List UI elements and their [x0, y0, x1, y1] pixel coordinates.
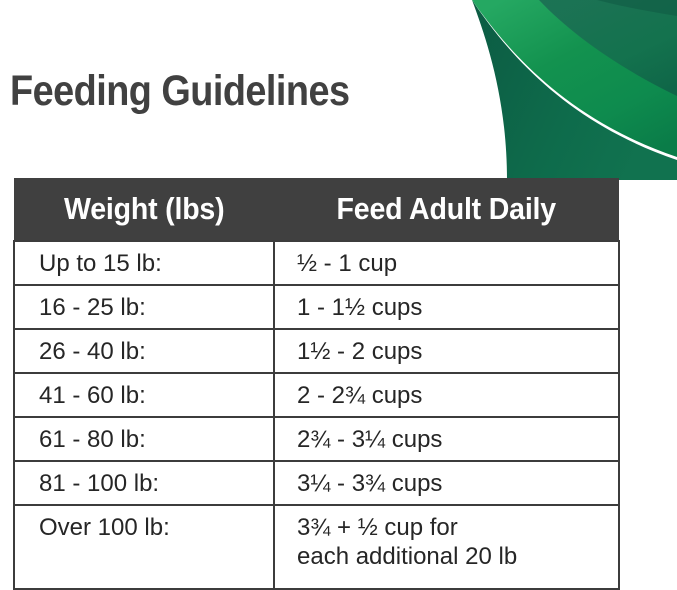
table-row: 16 - 25 lb: 1 - 1½ cups	[14, 285, 619, 329]
weight-cell: 41 - 60 lb:	[14, 373, 274, 417]
feed-cell-line: 1½ - 2 cups	[297, 337, 618, 366]
feeding-guidelines-table: Weight (lbs) Feed Adult Daily Up to 15 l…	[13, 178, 620, 590]
column-header-feed: Feed Adult Daily	[274, 178, 619, 241]
table-row: Up to 15 lb: ½ - 1 cup	[14, 241, 619, 285]
feed-cell: 3¾ + ½ cup for each additional 20 lb	[274, 505, 619, 589]
table-row: 41 - 60 lb: 2 - 2¾ cups	[14, 373, 619, 417]
feed-cell-line: ½ - 1 cup	[297, 249, 618, 278]
feed-cell-line: 2¾ - 3¼ cups	[297, 425, 618, 454]
column-header-weight: Weight (lbs)	[14, 178, 274, 241]
feed-cell: 3¼ - 3¾ cups	[274, 461, 619, 505]
table-row: 26 - 40 lb: 1½ - 2 cups	[14, 329, 619, 373]
feed-cell: ½ - 1 cup	[274, 241, 619, 285]
weight-cell: 16 - 25 lb:	[14, 285, 274, 329]
weight-cell: Up to 15 lb:	[14, 241, 274, 285]
table-row: Over 100 lb: 3¾ + ½ cup for each additio…	[14, 505, 619, 589]
column-header-feed-label: Feed Adult Daily	[337, 192, 556, 226]
feed-cell: 2 - 2¾ cups	[274, 373, 619, 417]
table-header-row: Weight (lbs) Feed Adult Daily	[14, 178, 619, 241]
page-title: Feeding Guidelines	[10, 66, 350, 116]
weight-cell: 61 - 80 lb:	[14, 417, 274, 461]
feed-cell-line: 1 - 1½ cups	[297, 293, 618, 322]
weight-cell: Over 100 lb:	[14, 505, 274, 589]
feed-cell-line: each additional 20 lb	[297, 542, 618, 571]
weight-cell: 81 - 100 lb:	[14, 461, 274, 505]
feed-cell-line: 2 - 2¾ cups	[297, 381, 618, 410]
feed-cell-line: 3¼ - 3¾ cups	[297, 469, 618, 498]
feed-cell-line: 3¾ + ½ cup for	[297, 513, 618, 542]
table-header: Weight (lbs) Feed Adult Daily	[14, 178, 619, 241]
table-row: 61 - 80 lb: 2¾ - 3¼ cups	[14, 417, 619, 461]
green-swoosh-icon	[447, 0, 677, 180]
feed-cell: 1 - 1½ cups	[274, 285, 619, 329]
column-header-weight-label: Weight (lbs)	[64, 192, 224, 226]
weight-cell: 26 - 40 lb:	[14, 329, 274, 373]
table-body: Up to 15 lb: ½ - 1 cup 16 - 25 lb: 1 - 1…	[14, 241, 619, 589]
feed-cell: 1½ - 2 cups	[274, 329, 619, 373]
feed-cell: 2¾ - 3¼ cups	[274, 417, 619, 461]
table-row: 81 - 100 lb: 3¼ - 3¾ cups	[14, 461, 619, 505]
